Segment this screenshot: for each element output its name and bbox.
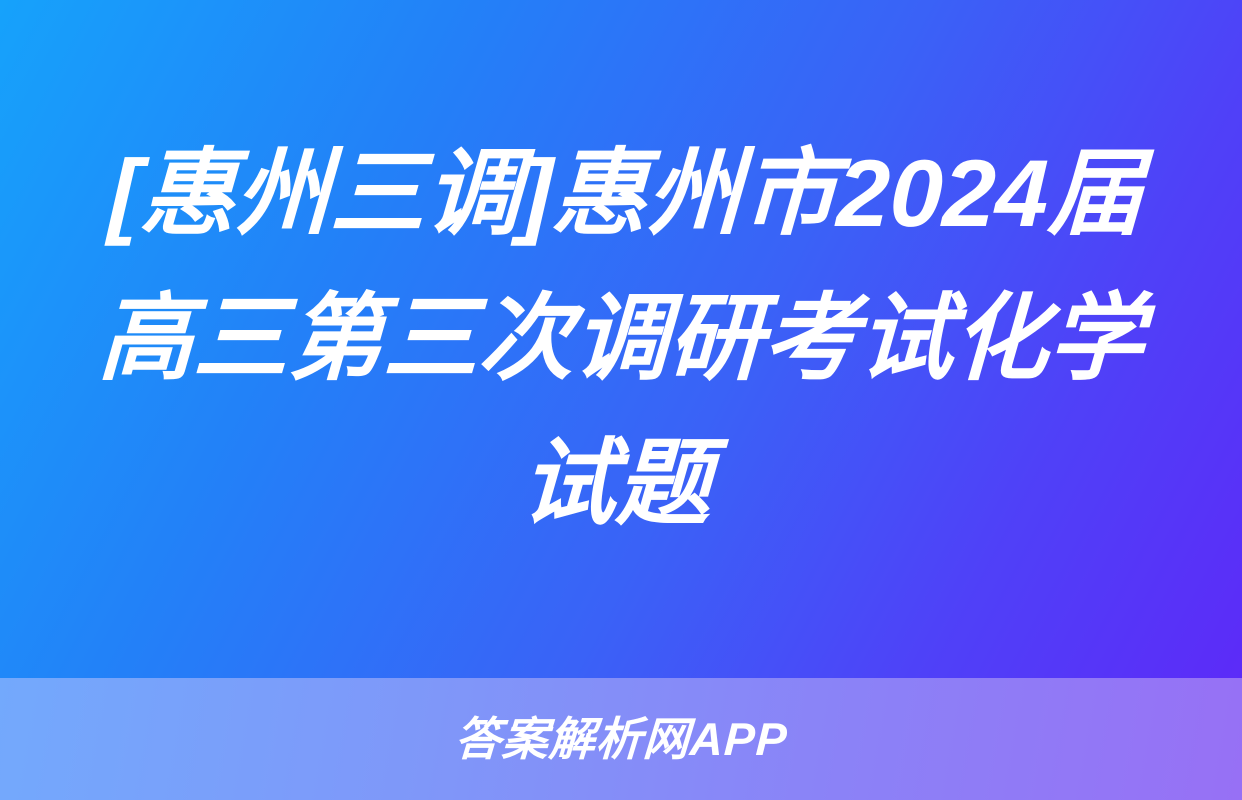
footer-banner: 答案解析网APP xyxy=(0,678,1242,800)
app-brand-label: 答案解析网APP xyxy=(453,714,788,764)
page-title: [惠州三调]惠州市2024届高三第三次调研考试化学试题 xyxy=(88,122,1153,557)
hero-banner: [惠州三调]惠州市2024届高三第三次调研考试化学试题 xyxy=(0,0,1242,678)
promo-card: [惠州三调]惠州市2024届高三第三次调研考试化学试题 答案解析网APP xyxy=(0,0,1242,800)
